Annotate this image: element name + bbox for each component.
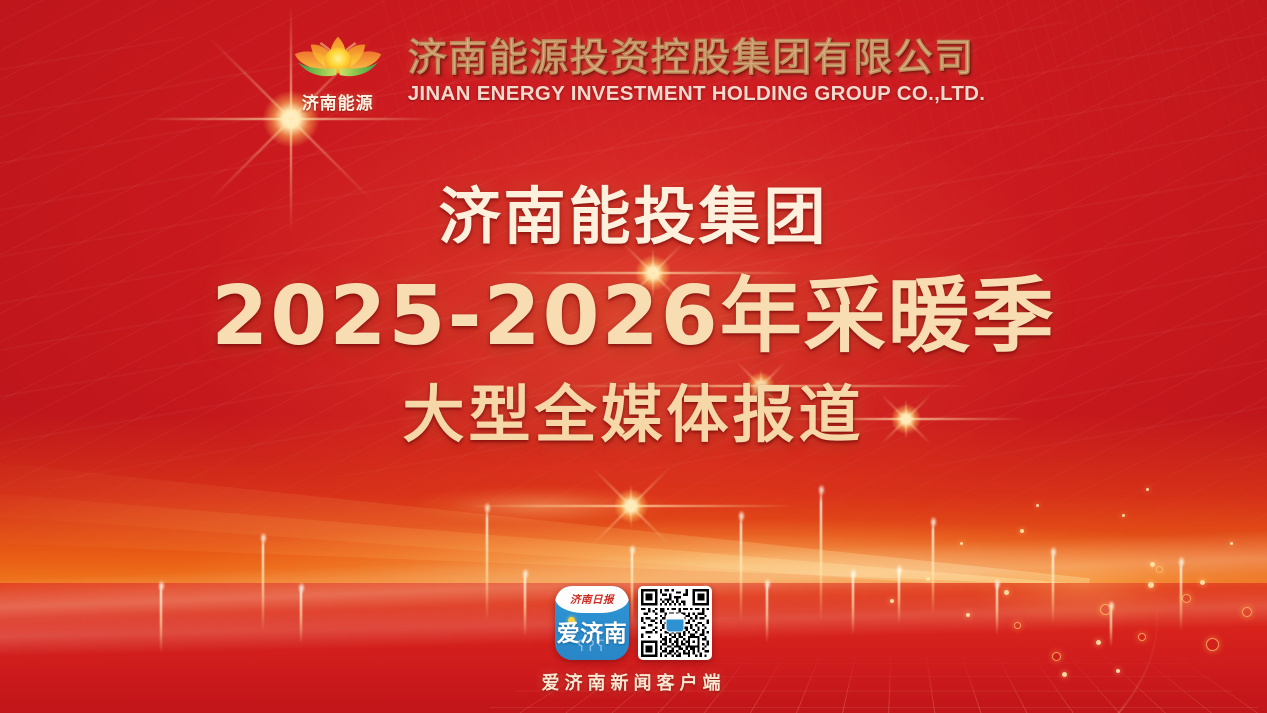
title-block: 济南能投集团 2025-2026年采暖季 大型全媒体报道 [0,186,1267,446]
app-icon-cap: 济南日报 [555,586,629,613]
bokeh-dot [1230,542,1233,545]
poster-canvas: 济南能源 济南能源投资控股集团有限公司 JINAN ENERGY INVESTM… [0,0,1267,713]
title-line-1: 济南能投集团 [0,186,1267,248]
title-line3-glow [370,476,710,536]
bokeh-dot [1122,514,1125,517]
bokeh-dot [1020,529,1024,533]
footer-caption: 爱济南新闻客户端 [542,669,726,695]
app-icon-top-label: 济南日报 [555,592,629,607]
bokeh-dot [1200,580,1205,585]
footer-block: 济南日报 爱济南 ʕʔʕ [0,586,1267,695]
company-names: 济南能源投资控股集团有限公司 JINAN ENERGY INVESTMENT H… [408,39,986,105]
bokeh-dot [1036,504,1039,507]
title-line-3: 大型全媒体报道 [0,384,1267,446]
title-line-2: 2025-2026年采暖季 [0,276,1267,358]
company-name-cn: 济南能源投资控股集团有限公司 [408,39,986,80]
lotus-flower-logo-icon [290,30,386,88]
company-name-en: JINAN ENERGY INVESTMENT HOLDING GROUP CO… [408,83,986,106]
brand-header: 济南能源 济南能源投资控股集团有限公司 JINAN ENERGY INVESTM… [0,30,1267,114]
bokeh-dot [1146,488,1149,491]
qr-code-center-logo [666,614,685,633]
qr-code[interactable] [638,586,712,660]
bokeh-dot [1150,562,1155,567]
bokeh-circle [1156,566,1163,573]
bokeh-dot [926,577,930,581]
footer-row: 济南日报 爱济南 ʕʔʕ [555,586,712,660]
bokeh-dot [960,542,963,545]
logo-block: 济南能源 [282,30,394,114]
logo-brand-short: 济南能源 [302,89,374,114]
app-icon-wave-mark: ʕʔʕ [555,637,629,655]
ai-jinan-app-icon[interactable]: 济南日报 爱济南 ʕʔʕ [555,586,629,660]
